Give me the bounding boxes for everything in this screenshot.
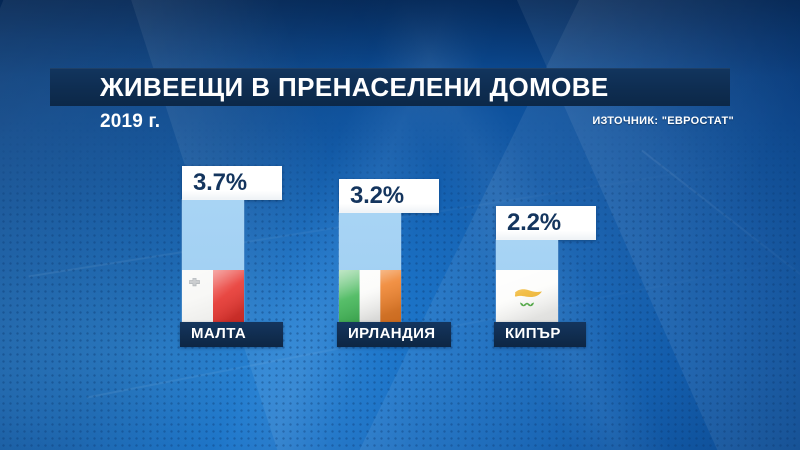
bar-column[interactable] — [339, 213, 401, 322]
bar-column[interactable] — [496, 240, 558, 322]
value-label-box: 3.7% — [182, 166, 282, 200]
bar-value-label: 3.7% — [193, 166, 247, 200]
broadcast-graphic: ЖИВЕЕЩИ В ПРЕНАСЕЛЕНИ ДОМОВЕ 2019 г. ИЗТ… — [0, 0, 800, 450]
ireland-flag — [339, 270, 401, 322]
country-label-box[interactable]: ИРЛАНДИЯ — [337, 322, 451, 347]
value-label-box: 2.2% — [496, 206, 596, 240]
country-label-box[interactable]: КИПЪР — [494, 322, 586, 347]
malta-flag — [182, 270, 244, 322]
bar-value-label: 3.2% — [350, 179, 404, 213]
country-label: КИПЪР — [505, 322, 561, 347]
bar-column[interactable] — [182, 200, 244, 322]
country-label: МАЛТА — [191, 322, 246, 347]
bar-value-label: 2.2% — [507, 206, 561, 240]
bar-group[interactable]: 3.2%ИРЛАНДИЯ — [0, 0, 800, 450]
country-label-box[interactable]: МАЛТА — [180, 322, 283, 347]
cyprus-flag — [496, 270, 558, 322]
country-label: ИРЛАНДИЯ — [348, 322, 435, 347]
bar-chart: 3.7%МАЛТА3.2%ИРЛАНДИЯ2.2%КИПЪР — [0, 0, 800, 450]
value-label-box: 3.2% — [339, 179, 439, 213]
